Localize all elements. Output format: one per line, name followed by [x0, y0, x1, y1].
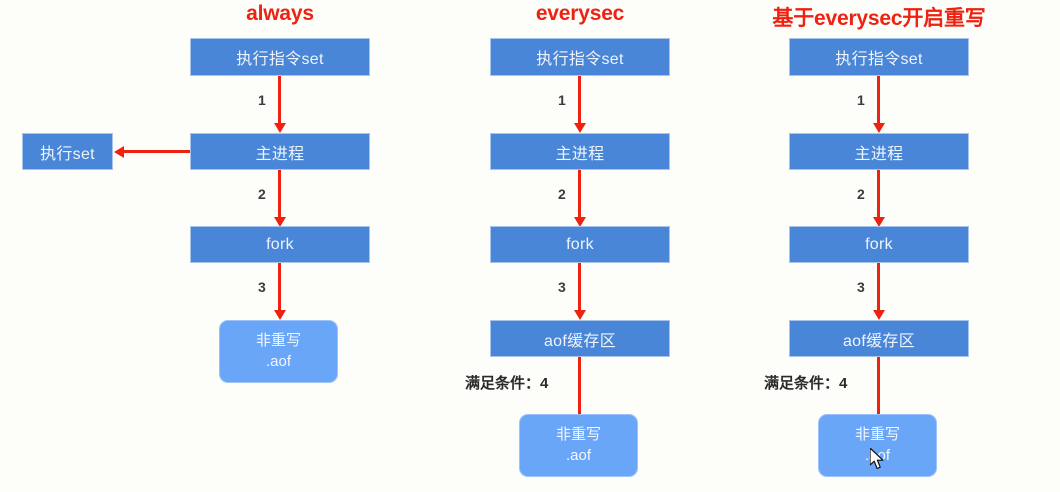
node-everysec-aof-buffer[interactable]: aof缓存区: [490, 320, 670, 357]
edge-label-everysec-2: 2: [558, 186, 566, 202]
edge-label-rewrite-1: 1: [857, 92, 865, 108]
aof-file-label-line1: 非重写: [556, 425, 601, 445]
node-always-fork[interactable]: fork: [190, 226, 370, 263]
edge-always-2: [278, 170, 281, 218]
edge-label-rewrite-4: 满足条件：4: [764, 372, 847, 393]
node-always-exec-cmd[interactable]: 执行指令set: [190, 38, 370, 76]
column-title-always: always: [190, 2, 370, 26]
node-always-main-proc[interactable]: 主进程: [190, 133, 370, 170]
edge-rewrite-2: [877, 170, 880, 218]
edge-label-everysec-1: 1: [558, 92, 566, 108]
edge-label-everysec-3: 3: [558, 279, 566, 295]
edge-everysec-3: [578, 263, 581, 311]
edge-label-always-2: 2: [258, 186, 266, 202]
node-rewrite-main-proc[interactable]: 主进程: [789, 133, 969, 170]
node-everysec-aof-file[interactable]: 非重写 .aof: [519, 414, 638, 477]
node-rewrite-aof-buffer[interactable]: aof缓存区: [789, 320, 969, 357]
aof-file-label-line2: .aof: [266, 352, 291, 372]
edge-everysec-1: [578, 76, 581, 124]
edge-label-rewrite-2: 2: [857, 186, 865, 202]
node-rewrite-fork[interactable]: fork: [789, 226, 969, 263]
edge-label-always-3: 3: [258, 279, 266, 295]
edge-label-always-1: 1: [258, 92, 266, 108]
node-everysec-fork[interactable]: fork: [490, 226, 670, 263]
edge-label-everysec-4: 满足条件：4: [465, 372, 548, 393]
edge-rewrite-3: [877, 263, 880, 311]
node-rewrite-exec-cmd[interactable]: 执行指令set: [789, 38, 969, 76]
edge-always-1: [278, 76, 281, 124]
node-always-exec-set[interactable]: 执行set: [22, 133, 113, 170]
node-rewrite-aof-file[interactable]: 非重写 .aof: [818, 414, 937, 477]
node-everysec-exec-cmd[interactable]: 执行指令set: [490, 38, 670, 76]
edge-rewrite-1: [877, 76, 880, 124]
column-title-everysec-rewrite: 基于everysec开启重写: [769, 2, 989, 32]
aof-file-label-line2: .aof: [566, 446, 591, 466]
edge-everysec-4: [578, 357, 581, 415]
node-always-aof-file[interactable]: 非重写 .aof: [219, 320, 338, 383]
edge-rewrite-4: [877, 357, 880, 415]
edge-everysec-2: [578, 170, 581, 218]
node-everysec-main-proc[interactable]: 主进程: [490, 133, 670, 170]
aof-file-label-line1: 非重写: [855, 425, 900, 445]
edge-label-rewrite-3: 3: [857, 279, 865, 295]
diagram-canvas: always 执行指令set 1 主进程 执行set 2 fork 3 非重写 …: [0, 0, 1060, 492]
column-title-everysec: everysec: [490, 2, 670, 26]
aof-file-label-line1: 非重写: [256, 331, 301, 351]
aof-file-label-line2: .aof: [865, 446, 890, 466]
edge-always-3: [278, 263, 281, 311]
edge-always-main-to-exec-set: [123, 150, 190, 153]
